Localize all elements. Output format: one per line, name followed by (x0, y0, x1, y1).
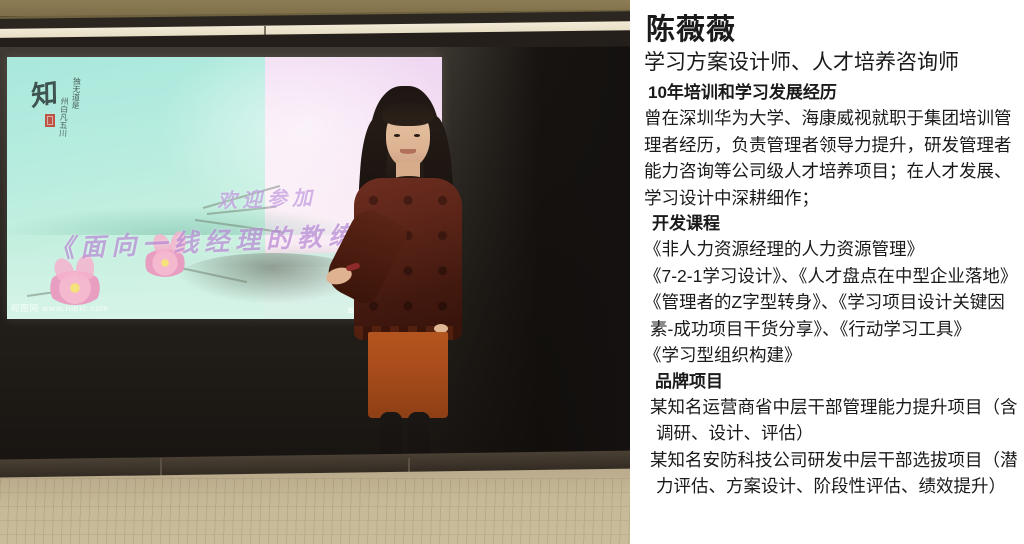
section-brand-projects: 品牌项目 某知名运营商省中层干部管理能力提升项目（含 调研、设计、评估） 某知名… (644, 369, 1016, 500)
presenter-eye-right (414, 134, 420, 137)
presenter-mouth (400, 149, 416, 154)
calligraphy-seal-stamp (45, 114, 55, 127)
calligraphy-column-2: 州白凡五川 (58, 97, 70, 149)
section-line: 曾在深圳华为大学、海康威视就职于集团培训管 (644, 105, 1016, 132)
section-line: 某知名安防科技公司研发中层干部选拔项目（潜 (650, 447, 1016, 474)
section-line: 《7-2-1学习设计》、《人才盘点在中型企业落地》 (644, 263, 1016, 290)
profile-subtitle: 学习方案设计师、人才培养咨询师 (644, 49, 1016, 77)
presenter-skirt (368, 332, 448, 418)
section-heading: 品牌项目 (655, 369, 1016, 394)
calligraphy-column-1: 独无道是 (69, 77, 81, 139)
section-line: 理者经历，负责管理者领导力提升，研发管理者 (644, 132, 1016, 159)
presenter-bangs (382, 102, 434, 126)
profile-name: 陈薇薇 (646, 12, 1016, 48)
profile-page: 知 独无道是 州白凡五川 欢迎参加 《面向一线经理的教练式辅导》 昵图网 www… (0, 0, 1024, 544)
watermark-left: 昵图网 www.nipic.com (11, 302, 109, 314)
section-courses: 开发课程 《非人力资源经理的人力资源管理》 《7-2-1学习设计》、《人才盘点在… (644, 211, 1016, 369)
baseboard-seam (160, 458, 162, 476)
section-line: 力评估、方案设计、阶段性评估、绩效提升） (656, 473, 1016, 500)
profile-text-panel: 陈薇薇 学习方案设计师、人才培养咨询师 10年培训和学习发展经历 曾在深圳华为大… (630, 0, 1024, 544)
section-line: 能力咨询等公司级人才培养项目；在人才发展、 (644, 158, 1016, 185)
presenter-photo: 知 独无道是 州白凡五川 欢迎参加 《面向一线经理的教练式辅导》 昵图网 www… (0, 0, 630, 544)
section-line: 调研、设计、评估） (656, 420, 1016, 447)
calligraphy-brush-char: 知 (31, 71, 54, 114)
slide-lotus-flower (47, 271, 103, 305)
presenter-eye-left (394, 134, 400, 137)
section-line: 素-成功项目干货分享》、《行动学习工具》 (650, 316, 1016, 343)
section-line: 某知名运营商省中层干部管理能力提升项目（含 (650, 394, 1016, 421)
section-line: 《管理者的Z字型转身》、《学习项目设计关键因 (644, 289, 1016, 316)
section-line: 学习设计中深耕细作； (644, 185, 1016, 212)
section-line: 《学习型组织构建》 (644, 342, 1016, 369)
section-line: 《非人力资源经理的人力资源管理》 (644, 236, 1016, 263)
slide-calligraphy: 知 独无道是 州白凡五川 (29, 71, 103, 149)
slide-title-line-1: 欢迎参加 (217, 181, 318, 213)
section-experience: 10年培训和学习发展经历 曾在深圳华为大学、海康威视就职于集团培训管 理者经历，… (644, 80, 1016, 211)
section-heading: 10年培训和学习发展经历 (648, 80, 1016, 105)
floor-texture (0, 478, 630, 544)
section-heading: 开发课程 (652, 211, 1016, 236)
